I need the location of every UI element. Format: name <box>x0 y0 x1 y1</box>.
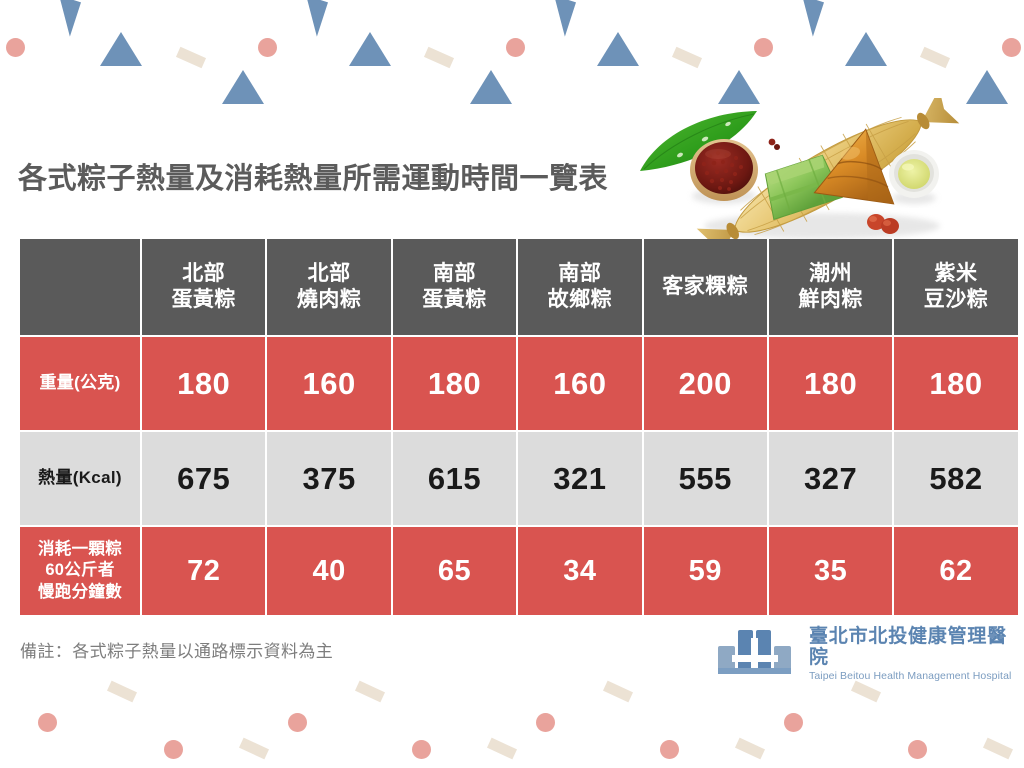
confetti-bar-icon <box>983 738 1013 760</box>
header-line-2: 蛋黃粽 <box>393 287 516 313</box>
cell-jogging-1: 40 <box>267 527 390 615</box>
cell-calories-2: 615 <box>393 432 516 525</box>
confetti-triangle-icon <box>222 70 264 104</box>
table-row-weight: 重量(公克) 180 160 180 160 200 180 180 <box>20 337 1018 430</box>
table-corner-cell <box>20 239 140 335</box>
cell-calories-5: 327 <box>769 432 892 525</box>
confetti-dot-icon <box>288 713 307 732</box>
header-line-1: 客家粿粽 <box>644 274 767 300</box>
confetti-dot-icon <box>258 38 277 57</box>
table-header-row: 北部 蛋黃粽 北部 燒肉粽 南部 蛋黃粽 南部 故鄉粽 客家粿粽 <box>20 239 1018 335</box>
cell-jogging-3: 34 <box>518 527 641 615</box>
column-header-south-hometown: 南部 故鄉粽 <box>518 239 641 335</box>
confetti-bar-icon <box>239 738 269 760</box>
cell-calories-4: 555 <box>644 432 767 525</box>
confetti-dot-icon <box>506 38 525 57</box>
cell-weight-2: 180 <box>393 337 516 430</box>
confetti-bar-icon <box>920 47 950 68</box>
header-line-1: 紫米 <box>894 261 1017 287</box>
confetti-bar-icon <box>672 47 702 68</box>
header-line-2: 燒肉粽 <box>267 287 390 313</box>
confetti-dot-icon <box>412 740 431 759</box>
row-label-line-1: 消耗一顆粽 <box>20 539 140 560</box>
confetti-bar-icon <box>851 681 881 703</box>
hospital-name-zh: 臺北市北投健康管理醫院 <box>809 627 1024 669</box>
confetti-dot-icon <box>536 713 555 732</box>
confetti-triangle-icon <box>48 0 81 37</box>
confetti-bar-icon <box>424 47 454 68</box>
hospital-building-icon <box>718 628 800 681</box>
confetti-bar-icon <box>487 738 517 760</box>
confetti-dot-icon <box>754 38 773 57</box>
cell-jogging-0: 72 <box>142 527 265 615</box>
confetti-dot-icon <box>660 740 679 759</box>
cell-weight-3: 160 <box>518 337 641 430</box>
confetti-triangle-icon <box>349 32 391 66</box>
column-header-south-egg-yolk: 南部 蛋黃粽 <box>393 239 516 335</box>
confetti-dot-icon <box>784 713 803 732</box>
row-label-line-3: 慢跑分鐘數 <box>20 582 140 603</box>
cell-weight-6: 180 <box>894 337 1017 430</box>
cell-calories-3: 321 <box>518 432 641 525</box>
confetti-triangle-icon <box>295 0 328 37</box>
confetti-bar-icon <box>355 681 385 703</box>
column-header-north-egg-yolk: 北部 蛋黃粽 <box>142 239 265 335</box>
cell-calories-0: 675 <box>142 432 265 525</box>
cell-jogging-4: 59 <box>644 527 767 615</box>
table-row-jogging-minutes: 消耗一顆粽 60公斤者 慢跑分鐘數 72 40 65 34 59 35 62 <box>20 527 1018 615</box>
footnote-text: 備註：各式粽子熱量以通路標示資料為主 <box>20 637 333 662</box>
confetti-triangle-icon <box>845 32 887 66</box>
zongzi-photo <box>632 98 1024 243</box>
confetti-dot-icon <box>6 38 25 57</box>
cell-weight-1: 160 <box>267 337 390 430</box>
header-line-1: 北部 <box>267 261 390 287</box>
cell-weight-5: 180 <box>769 337 892 430</box>
header-line-2: 豆沙粽 <box>894 287 1017 313</box>
confetti-dot-icon <box>908 740 927 759</box>
header-line-1: 南部 <box>393 261 516 287</box>
column-header-north-roast-pork: 北部 燒肉粽 <box>267 239 390 335</box>
header-line-1: 南部 <box>518 261 641 287</box>
header-line-2: 蛋黃粽 <box>142 287 265 313</box>
calorie-table: 北部 蛋黃粽 北部 燒肉粽 南部 蛋黃粽 南部 故鄉粽 客家粿粽 <box>18 237 1020 617</box>
row-label-jogging-minutes: 消耗一顆粽 60公斤者 慢跑分鐘數 <box>20 527 140 615</box>
column-header-chaozhou-fresh-pork: 潮州 鮮肉粽 <box>769 239 892 335</box>
confetti-triangle-icon <box>543 0 576 37</box>
cell-jogging-6: 62 <box>894 527 1017 615</box>
header-line-2: 鮮肉粽 <box>769 287 892 313</box>
confetti-dot-icon <box>1002 38 1021 57</box>
confetti-dot-icon <box>38 713 57 732</box>
column-header-purple-rice-red-bean: 紫米 豆沙粽 <box>894 239 1017 335</box>
confetti-bar-icon <box>735 738 765 760</box>
column-header-hakka-guozong: 客家粿粽 <box>644 239 767 335</box>
cell-calories-1: 375 <box>267 432 390 525</box>
row-label-calories: 熱量(Kcal) <box>20 432 140 525</box>
hospital-name-block: 臺北市北投健康管理醫院 Taipei Beitou Health Managem… <box>809 627 1024 682</box>
confetti-bar-icon <box>107 681 137 703</box>
cell-weight-0: 180 <box>142 337 265 430</box>
confetti-triangle-icon <box>470 70 512 104</box>
confetti-triangle-icon <box>791 0 824 37</box>
confetti-bar-icon <box>176 47 206 68</box>
header-line-2: 故鄉粽 <box>518 287 641 313</box>
cell-calories-6: 582 <box>894 432 1017 525</box>
hospital-logo: 臺北市北投健康管理醫院 Taipei Beitou Health Managem… <box>718 627 1024 682</box>
poster-canvas: 各式粽子熱量及消耗熱量所需運動時間一覽表 <box>0 0 1024 768</box>
cell-jogging-5: 35 <box>769 527 892 615</box>
confetti-triangle-icon <box>100 32 142 66</box>
page-title: 各式粽子熱量及消耗熱量所需運動時間一覽表 <box>18 155 608 197</box>
row-label-line-2: 60公斤者 <box>20 560 140 581</box>
confetti-decoration-bottom <box>0 690 1024 768</box>
confetti-dot-icon <box>164 740 183 759</box>
cell-jogging-2: 65 <box>393 527 516 615</box>
header-line-1: 北部 <box>142 261 265 287</box>
confetti-bar-icon <box>603 681 633 703</box>
row-label-weight: 重量(公克) <box>20 337 140 430</box>
cell-weight-4: 200 <box>644 337 767 430</box>
header-line-1: 潮州 <box>769 261 892 287</box>
confetti-triangle-icon <box>597 32 639 66</box>
table-row-calories: 熱量(Kcal) 675 375 615 321 555 327 582 <box>20 432 1018 525</box>
hospital-name-en: Taipei Beitou Health Management Hospital <box>809 671 1024 683</box>
